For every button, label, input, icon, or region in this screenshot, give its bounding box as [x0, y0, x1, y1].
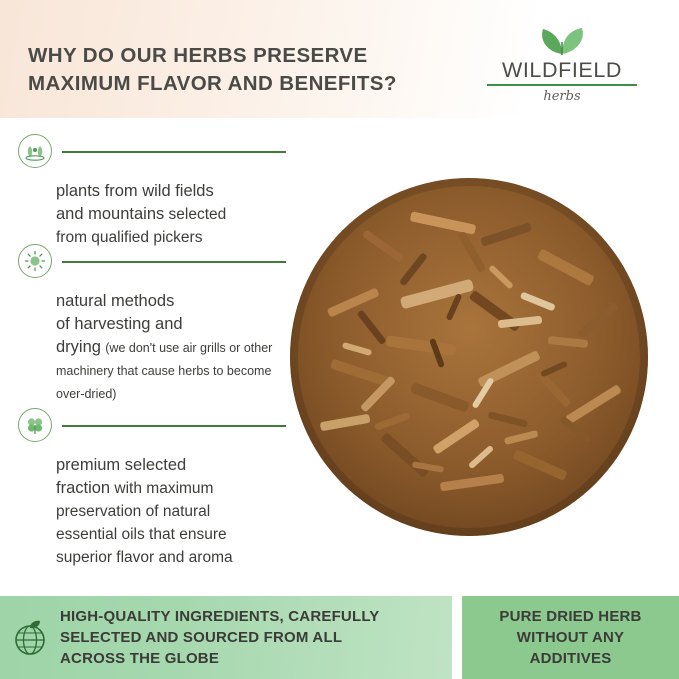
- globe-leaf-icon: [0, 619, 60, 657]
- sun-icon: [18, 244, 52, 278]
- feature-line-5: superior flavor and aroma: [56, 549, 233, 566]
- feature-line-3: preservation of natural: [56, 503, 210, 520]
- clover-icon: [18, 408, 52, 442]
- feature-lead-1: natural methods: [56, 292, 174, 310]
- banner-pure: PURE DRIED HERB WITHOUT ANY ADDITIVES: [462, 596, 679, 679]
- feature-lead-2: and mountains: [56, 205, 164, 223]
- feature-lead-2: fraction: [56, 479, 110, 497]
- brand-name: WILDFIELD: [467, 58, 657, 82]
- header-band: WHY DO OUR HERBS PRESERVE MAXIMUM FLAVOR…: [0, 0, 679, 118]
- banner-left-line-3: ACROSS THE GLOBE: [60, 648, 380, 669]
- banner-right-line-1: PURE DRIED HERB: [499, 606, 641, 627]
- dried-herb-bark-pile-circle: [290, 178, 648, 536]
- feature-divider: [62, 261, 286, 263]
- banner-left-line-1: HIGH-QUALITY INGREDIENTS, CAREFULLY: [60, 606, 380, 627]
- feature-item-plants: plants from wild fields and mountains se…: [18, 134, 286, 249]
- feature-lead-1: premium selected: [56, 456, 186, 474]
- field-plants-icon: [18, 134, 52, 168]
- feature-lead-2: of harvesting and: [56, 315, 183, 333]
- feature-divider: [62, 425, 286, 427]
- two-leaves-icon: [517, 22, 607, 56]
- banner-left-line-2: SELECTED AND SOURCED FROM ALL: [60, 627, 380, 648]
- feature-item-drying: natural methods of harvesting and drying…: [18, 244, 286, 405]
- feature-rest: with maximum: [110, 480, 213, 497]
- feature-text: natural methods of harvesting and drying…: [56, 290, 286, 405]
- product-photo: [290, 178, 648, 536]
- feature-divider: [62, 151, 286, 153]
- banner-pure-text: PURE DRIED HERB WITHOUT ANY ADDITIVES: [499, 606, 641, 669]
- feature-item-fraction: premium selected fraction with maximum p…: [18, 408, 286, 569]
- banner-right-line-3: ADDITIVES: [499, 648, 641, 669]
- headline-line-1: WHY DO OUR HERBS PRESERVE: [28, 42, 458, 70]
- brand-logo: WILDFIELD herbs: [467, 22, 657, 104]
- feature-rest: selected: [164, 206, 226, 223]
- logo-divider: [487, 84, 637, 86]
- feature-text: plants from wild fields and mountains se…: [56, 180, 286, 249]
- feature-line-4: essential oils that ensure: [56, 526, 227, 543]
- page-title: WHY DO OUR HERBS PRESERVE MAXIMUM FLAVOR…: [28, 42, 458, 98]
- feature-lead-3: drying: [56, 338, 101, 356]
- banner-quality-text: HIGH-QUALITY INGREDIENTS, CAREFULLY SELE…: [60, 606, 392, 669]
- headline-line-2: MAXIMUM FLAVOR AND BENEFITS?: [28, 70, 458, 98]
- brand-subtitle: herbs: [467, 89, 657, 105]
- feature-lead-1: plants from wild fields: [56, 182, 214, 200]
- banner-right-line-2: WITHOUT ANY: [499, 627, 641, 648]
- feature-text: premium selected fraction with maximum p…: [56, 454, 286, 569]
- banner-quality: HIGH-QUALITY INGREDIENTS, CAREFULLY SELE…: [0, 596, 452, 679]
